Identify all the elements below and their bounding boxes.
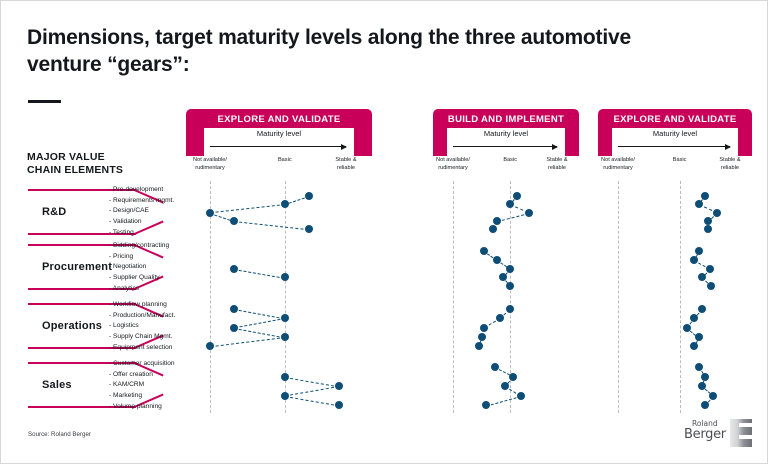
data-point[interactable] [704, 217, 712, 225]
roland-berger-logo: Roland Berger [684, 419, 752, 449]
data-point[interactable] [698, 382, 706, 390]
data-point[interactable] [704, 225, 712, 233]
chart-plot-explore-validate-2 [1, 1, 768, 465]
data-point[interactable] [695, 247, 703, 255]
source-note: Source: Roland Berger [28, 431, 91, 438]
data-point[interactable] [690, 314, 698, 322]
data-point[interactable] [695, 363, 703, 371]
data-point[interactable] [713, 209, 721, 217]
data-point[interactable] [695, 200, 703, 208]
gridline-0 [618, 181, 619, 413]
logo-b-mark [730, 419, 752, 447]
data-point[interactable] [701, 373, 709, 381]
data-point[interactable] [695, 333, 703, 341]
data-point[interactable] [690, 342, 698, 350]
data-point[interactable] [683, 324, 691, 332]
logo-line-berger: Berger [684, 427, 726, 442]
data-point[interactable] [690, 256, 698, 264]
data-point[interactable] [707, 282, 715, 290]
data-point[interactable] [709, 392, 717, 400]
data-point[interactable] [698, 305, 706, 313]
data-point[interactable] [698, 273, 706, 281]
gridline-1 [680, 181, 681, 413]
data-point[interactable] [706, 265, 714, 273]
slide-canvas: Dimensions, target maturity levels along… [0, 0, 768, 464]
data-point[interactable] [701, 192, 709, 200]
data-point[interactable] [701, 401, 709, 409]
